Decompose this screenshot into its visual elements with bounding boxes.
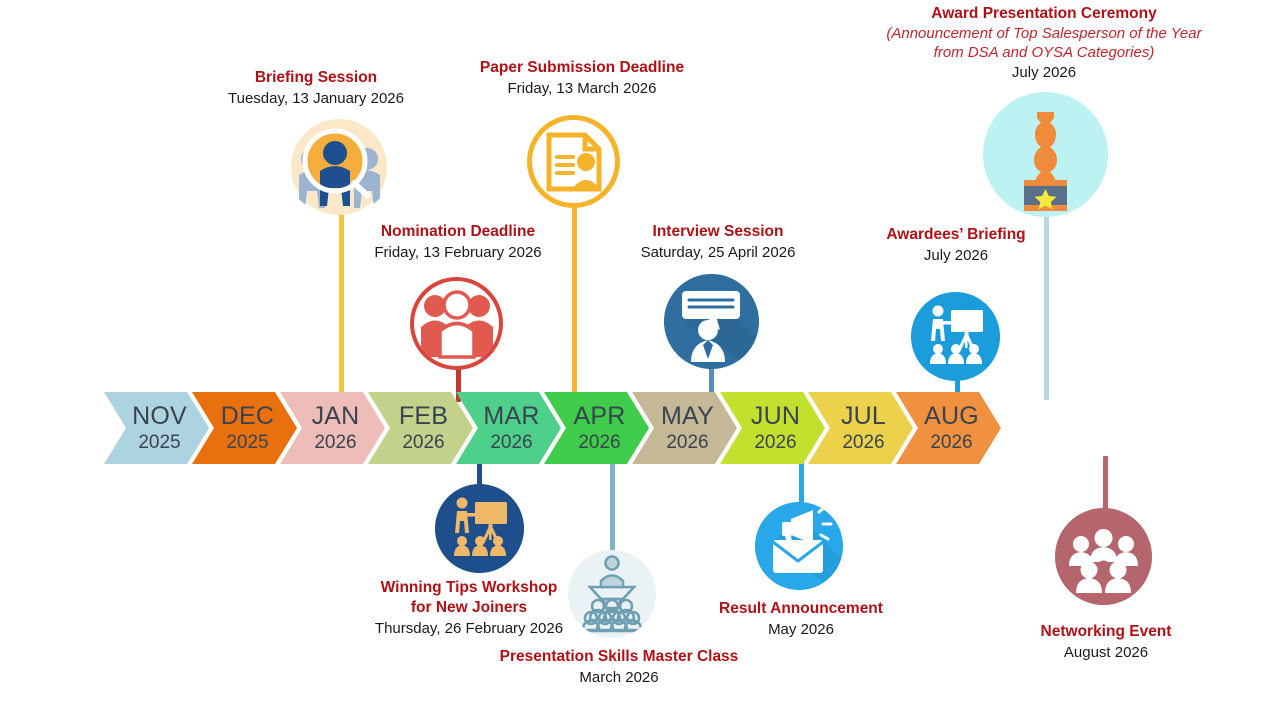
- label-interview-session: Interview Session Saturday, 25 April 202…: [618, 222, 818, 262]
- label-networking-event: Networking Event August 2026: [1010, 622, 1202, 662]
- segment-month: JUL: [835, 404, 886, 429]
- document-person-icon-svg: [543, 131, 605, 193]
- label-title: Awardees’ Briefing: [866, 225, 1046, 245]
- timeline-axis: NOV 2025 DEC 2025 JAN 2026 FEB 2026 MAR …: [104, 392, 984, 464]
- trophy-icon-svg: [983, 92, 1108, 217]
- label-briefing-session: Briefing Session Tuesday, 13 January 202…: [196, 68, 436, 108]
- segment-year: 2025: [220, 433, 268, 452]
- segment-month: JAN: [306, 404, 360, 429]
- label-title-line1: Winning Tips Workshop: [348, 578, 590, 598]
- segment-year: 2026: [308, 433, 356, 452]
- segment-year: 2026: [924, 433, 972, 452]
- speech-bubble-person-icon[interactable]: [664, 274, 759, 369]
- segment-month: JUN: [745, 404, 800, 429]
- megaphone-mail-icon-svg: [755, 502, 843, 590]
- label-subtitle-line1: (Announcement of Top Salesperson of the …: [862, 24, 1226, 43]
- label-date: August 2026: [1010, 643, 1202, 662]
- label-date: May 2026: [700, 620, 902, 639]
- people-group-icon[interactable]: [1055, 508, 1152, 605]
- presenter-board-workshop-icon-svg: [435, 484, 524, 573]
- label-award-ceremony: Award Presentation Ceremony (Announcemen…: [862, 4, 1226, 82]
- segment-month: FEB: [393, 404, 448, 429]
- timeline-infographic: NOV 2025 DEC 2025 JAN 2026 FEB 2026 MAR …: [0, 0, 1280, 720]
- segment-month: APR: [567, 404, 625, 429]
- label-subtitle-line2: from DSA and OYSA Categories): [862, 43, 1226, 62]
- label-title: Presentation Skills Master Class: [478, 647, 760, 667]
- label-result-announcement: Result Announcement May 2026: [700, 599, 902, 639]
- presenter-board-icon-svg: [911, 292, 1000, 381]
- megaphone-mail-icon[interactable]: [755, 502, 843, 590]
- segment-year: 2026: [484, 433, 532, 452]
- label-title: Paper Submission Deadline: [442, 58, 722, 78]
- people-group-icon-svg: [1055, 508, 1152, 605]
- segment-year: 2026: [396, 433, 444, 452]
- segment-month: DEC: [215, 404, 274, 429]
- segment-year: 2026: [748, 433, 796, 452]
- label-date: Friday, 13 March 2026: [442, 79, 722, 98]
- segment-year: 2026: [660, 433, 708, 452]
- segment-year: 2026: [836, 433, 884, 452]
- presenter-board-icon[interactable]: [911, 292, 1000, 381]
- label-paper-submission: Paper Submission Deadline Friday, 13 Mar…: [442, 58, 722, 98]
- person-search-icon-svg: [285, 119, 393, 215]
- label-awardees-briefing: Awardees’ Briefing July 2026: [866, 225, 1046, 265]
- label-title-line2: for New Joiners: [348, 598, 590, 618]
- label-date: July 2026: [862, 63, 1226, 82]
- label-date: Thursday, 26 February 2026: [348, 619, 590, 638]
- segment-year: 2026: [572, 433, 620, 452]
- label-presentation-master-class: Presentation Skills Master Class March 2…: [478, 647, 760, 687]
- segment-year: 2025: [132, 433, 180, 452]
- label-winning-tips-workshop: Winning Tips Workshop for New Joiners Th…: [348, 578, 590, 638]
- presenter-board-icon[interactable]: [435, 484, 524, 573]
- document-person-icon[interactable]: [527, 115, 620, 208]
- label-title: Interview Session: [618, 222, 818, 242]
- label-nomination-deadline: Nomination Deadline Friday, 13 February …: [338, 222, 578, 262]
- label-date: Friday, 13 February 2026: [338, 243, 578, 262]
- three-people-icon-svg: [419, 289, 495, 359]
- person-search-icon[interactable]: [285, 119, 393, 215]
- label-title: Briefing Session: [196, 68, 436, 88]
- segment-month: AUG: [918, 404, 979, 429]
- label-title: Nomination Deadline: [338, 222, 578, 242]
- label-title: Result Announcement: [700, 599, 902, 619]
- segment-month: NOV: [126, 404, 187, 429]
- speech-bubble-person-icon-svg: [664, 274, 759, 369]
- label-date: Saturday, 25 April 2026: [618, 243, 818, 262]
- segment-month: MAR: [477, 404, 539, 429]
- label-title: Award Presentation Ceremony: [862, 4, 1226, 24]
- trophy-icon[interactable]: [983, 92, 1108, 217]
- label-date: March 2026: [478, 668, 760, 687]
- three-people-icon[interactable]: [410, 277, 503, 370]
- label-title: Networking Event: [1010, 622, 1202, 642]
- timeline-segment-nov[interactable]: NOV 2025: [104, 392, 209, 464]
- segment-month: MAY: [655, 404, 714, 429]
- label-date: Tuesday, 13 January 2026: [196, 89, 436, 108]
- label-date: July 2026: [866, 246, 1046, 265]
